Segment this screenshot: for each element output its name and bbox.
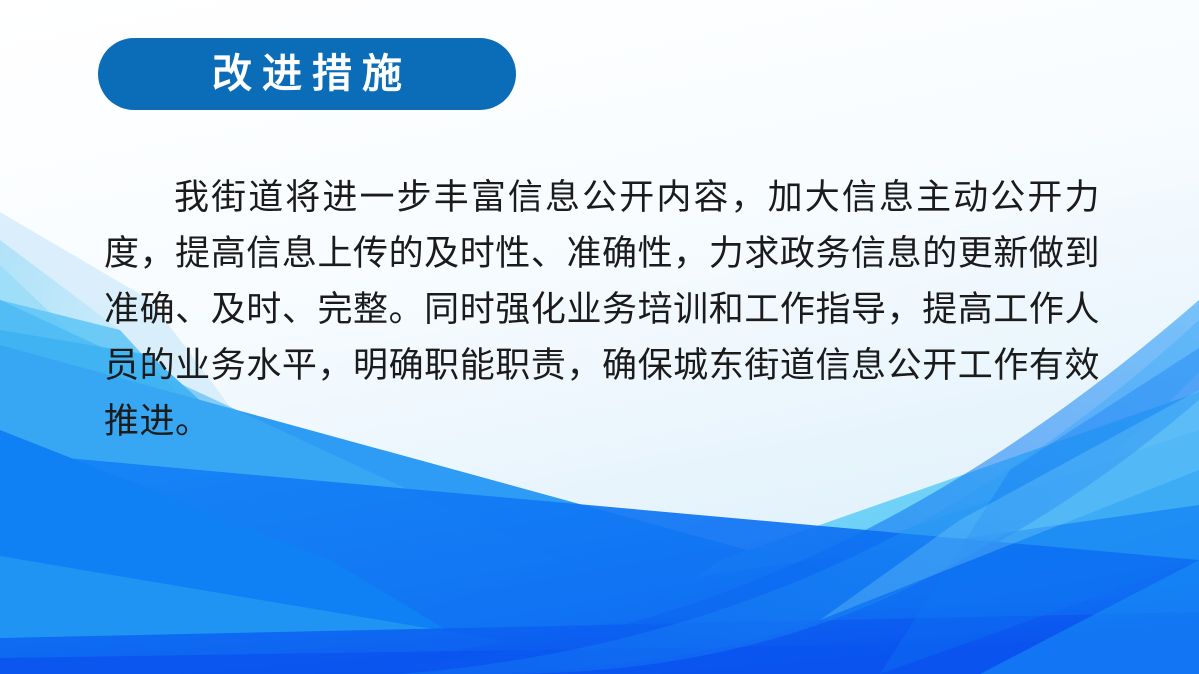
slide-canvas: 改进措施 我街道将进一步丰富信息公开内容，加大信息主动公开力度，提高信息上传的及… bbox=[0, 0, 1199, 674]
body-paragraph: 我街道将进一步丰富信息公开内容，加大信息主动公开力度，提高信息上传的及时性、准确… bbox=[104, 170, 1100, 450]
section-title-badge: 改进措施 bbox=[98, 38, 516, 110]
section-title-text: 改进措施 bbox=[202, 54, 412, 94]
